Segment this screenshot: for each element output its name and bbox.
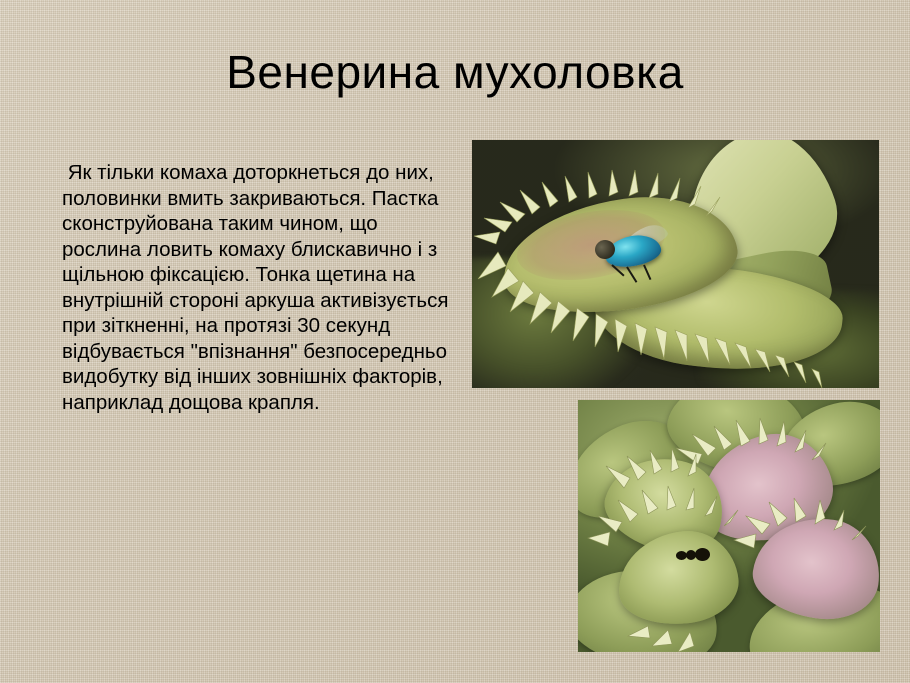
venus-flytrap-cluster-photo	[578, 400, 880, 652]
slide-body-text: Як тільки комаха доторкнеться до них, по…	[62, 160, 462, 415]
photo-trap-teeth-icon	[472, 140, 879, 388]
presentation-slide: Венерина мухоловка Як тільки комаха дото…	[0, 0, 910, 683]
venus-flytrap-with-blue-fly-photo	[472, 140, 879, 388]
page-title: Венерина мухоловка	[0, 44, 910, 100]
photo-cluster-teeth-icon	[578, 400, 880, 652]
photo-cluster-insect	[676, 548, 710, 562]
